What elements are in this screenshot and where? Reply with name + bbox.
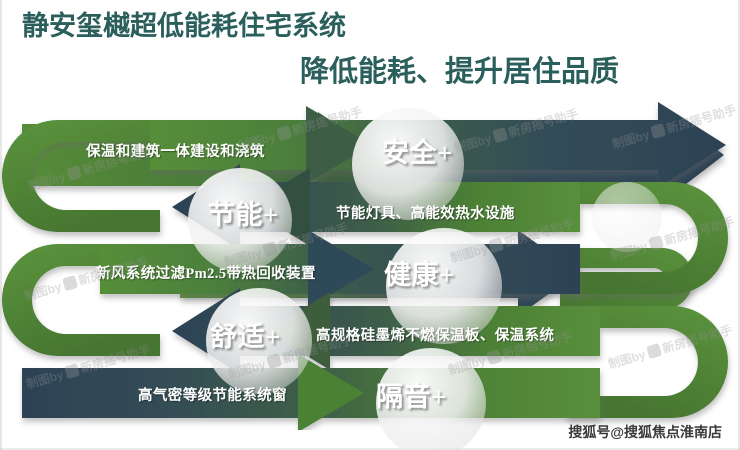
source-credit: 搜狐号@搜狐焦点淮南店 <box>568 422 722 442</box>
page-title: 静安玺樾超低能耗住宅系统 <box>22 4 346 43</box>
slide-canvas: 静安玺樾超低能耗住宅系统 降低能耗、提升居住品质 <box>0 0 740 450</box>
serpentine-process-diagram-shapes <box>0 100 740 430</box>
page-subtitle: 降低能耗、提升居住品质 <box>300 48 619 90</box>
row-5-band <box>22 354 600 430</box>
